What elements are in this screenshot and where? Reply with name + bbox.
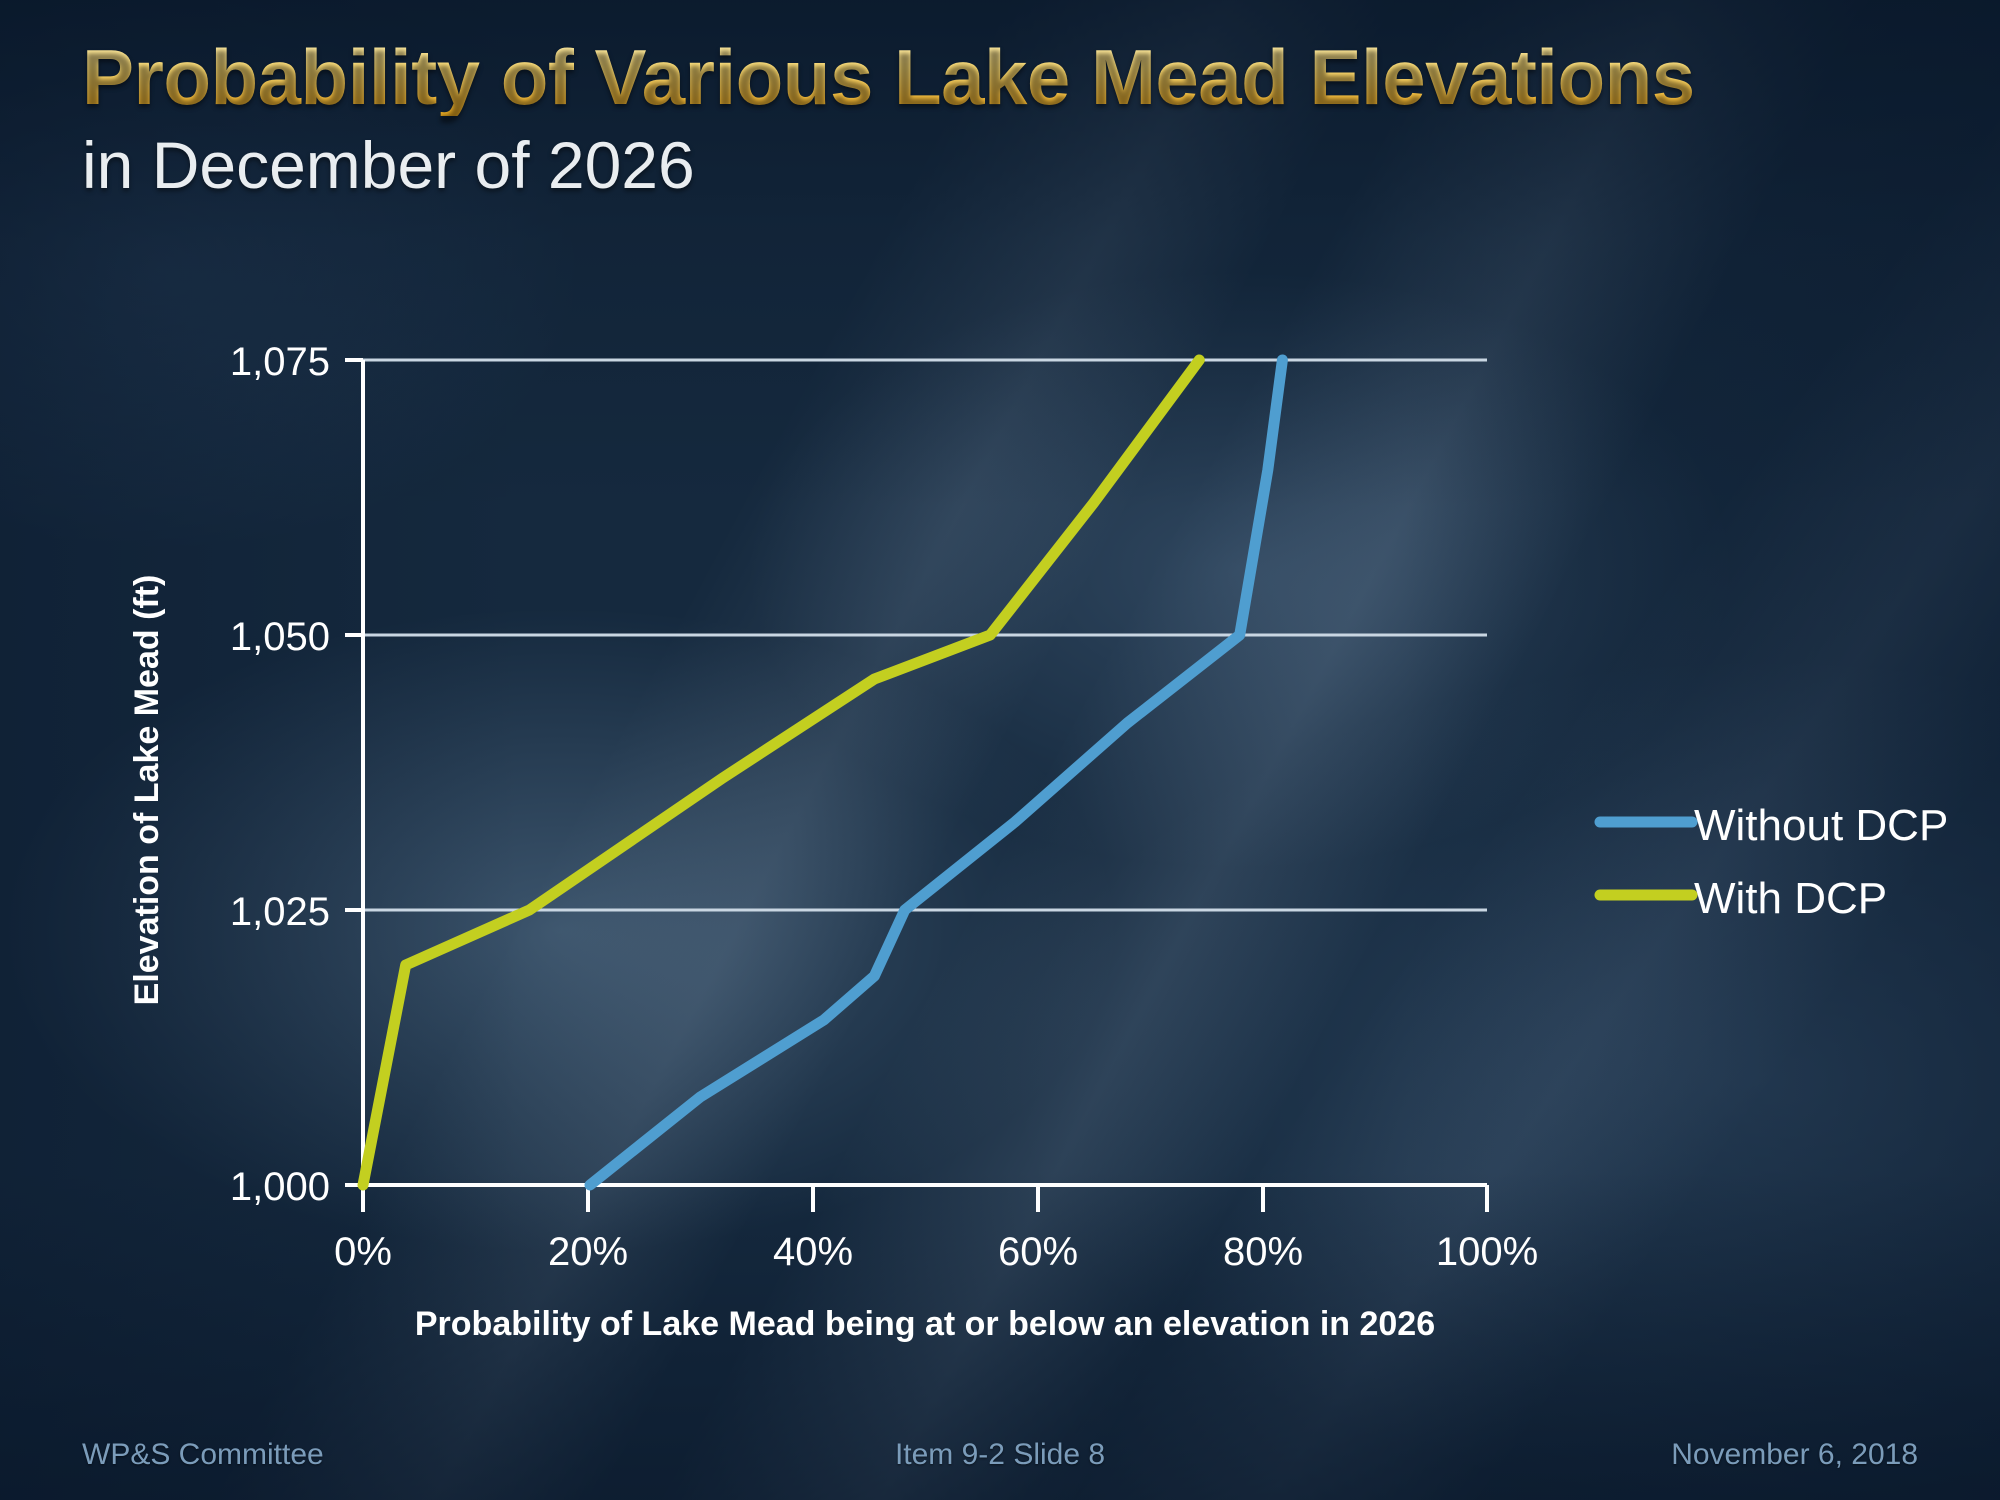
y-tick-label-1050: 1,050	[230, 615, 330, 659]
x-axis-tick-labels: 0% 20% 40% 60% 80% 100%	[334, 1230, 1538, 1274]
x-tick-label-0: 0%	[334, 1230, 392, 1274]
y-axis-title: Elevation of Lake Mead (ft)	[128, 575, 166, 1006]
x-tick-label-100: 100%	[1436, 1230, 1538, 1274]
chart-legend: Without DCP With DCP	[1600, 801, 1948, 923]
chart-series-group	[363, 360, 1282, 1185]
page-title: Probability of Various Lake Mead Elevati…	[82, 38, 1695, 116]
x-tick-label-60: 60%	[998, 1230, 1078, 1274]
x-axis-title: Probability of Lake Mead being at or bel…	[415, 1305, 1435, 1343]
legend-label-with-dcp: With DCP	[1694, 874, 1887, 923]
legend-label-without-dcp: Without DCP	[1694, 801, 1948, 850]
chart-gridlines	[363, 360, 1487, 910]
footer-committee: WP&S Committee	[82, 1438, 324, 1472]
line-chart: 1,075 1,050 1,025 1,000 0% 20% 40% 60% 8…	[0, 0, 2000, 1500]
series-line-without-dcp	[590, 360, 1282, 1185]
y-tick-label-1075: 1,075	[230, 340, 330, 384]
y-tick-label-1025: 1,025	[230, 890, 330, 934]
x-tick-label-40: 40%	[773, 1230, 853, 1274]
x-tick-label-80: 80%	[1223, 1230, 1303, 1274]
footer-item-slide: Item 9-2 Slide 8	[895, 1438, 1105, 1472]
x-axis-ticks	[363, 1185, 1487, 1212]
y-axis-tick-labels: 1,075 1,050 1,025 1,000	[230, 340, 330, 1209]
page-subtitle: in December of 2026	[82, 132, 695, 198]
x-tick-label-20: 20%	[548, 1230, 628, 1274]
chart-axes	[363, 360, 1487, 1185]
y-tick-label-1000: 1,000	[230, 1165, 330, 1209]
footer-date: November 6, 2018	[1671, 1438, 1918, 1472]
y-axis-ticks	[345, 360, 363, 1185]
